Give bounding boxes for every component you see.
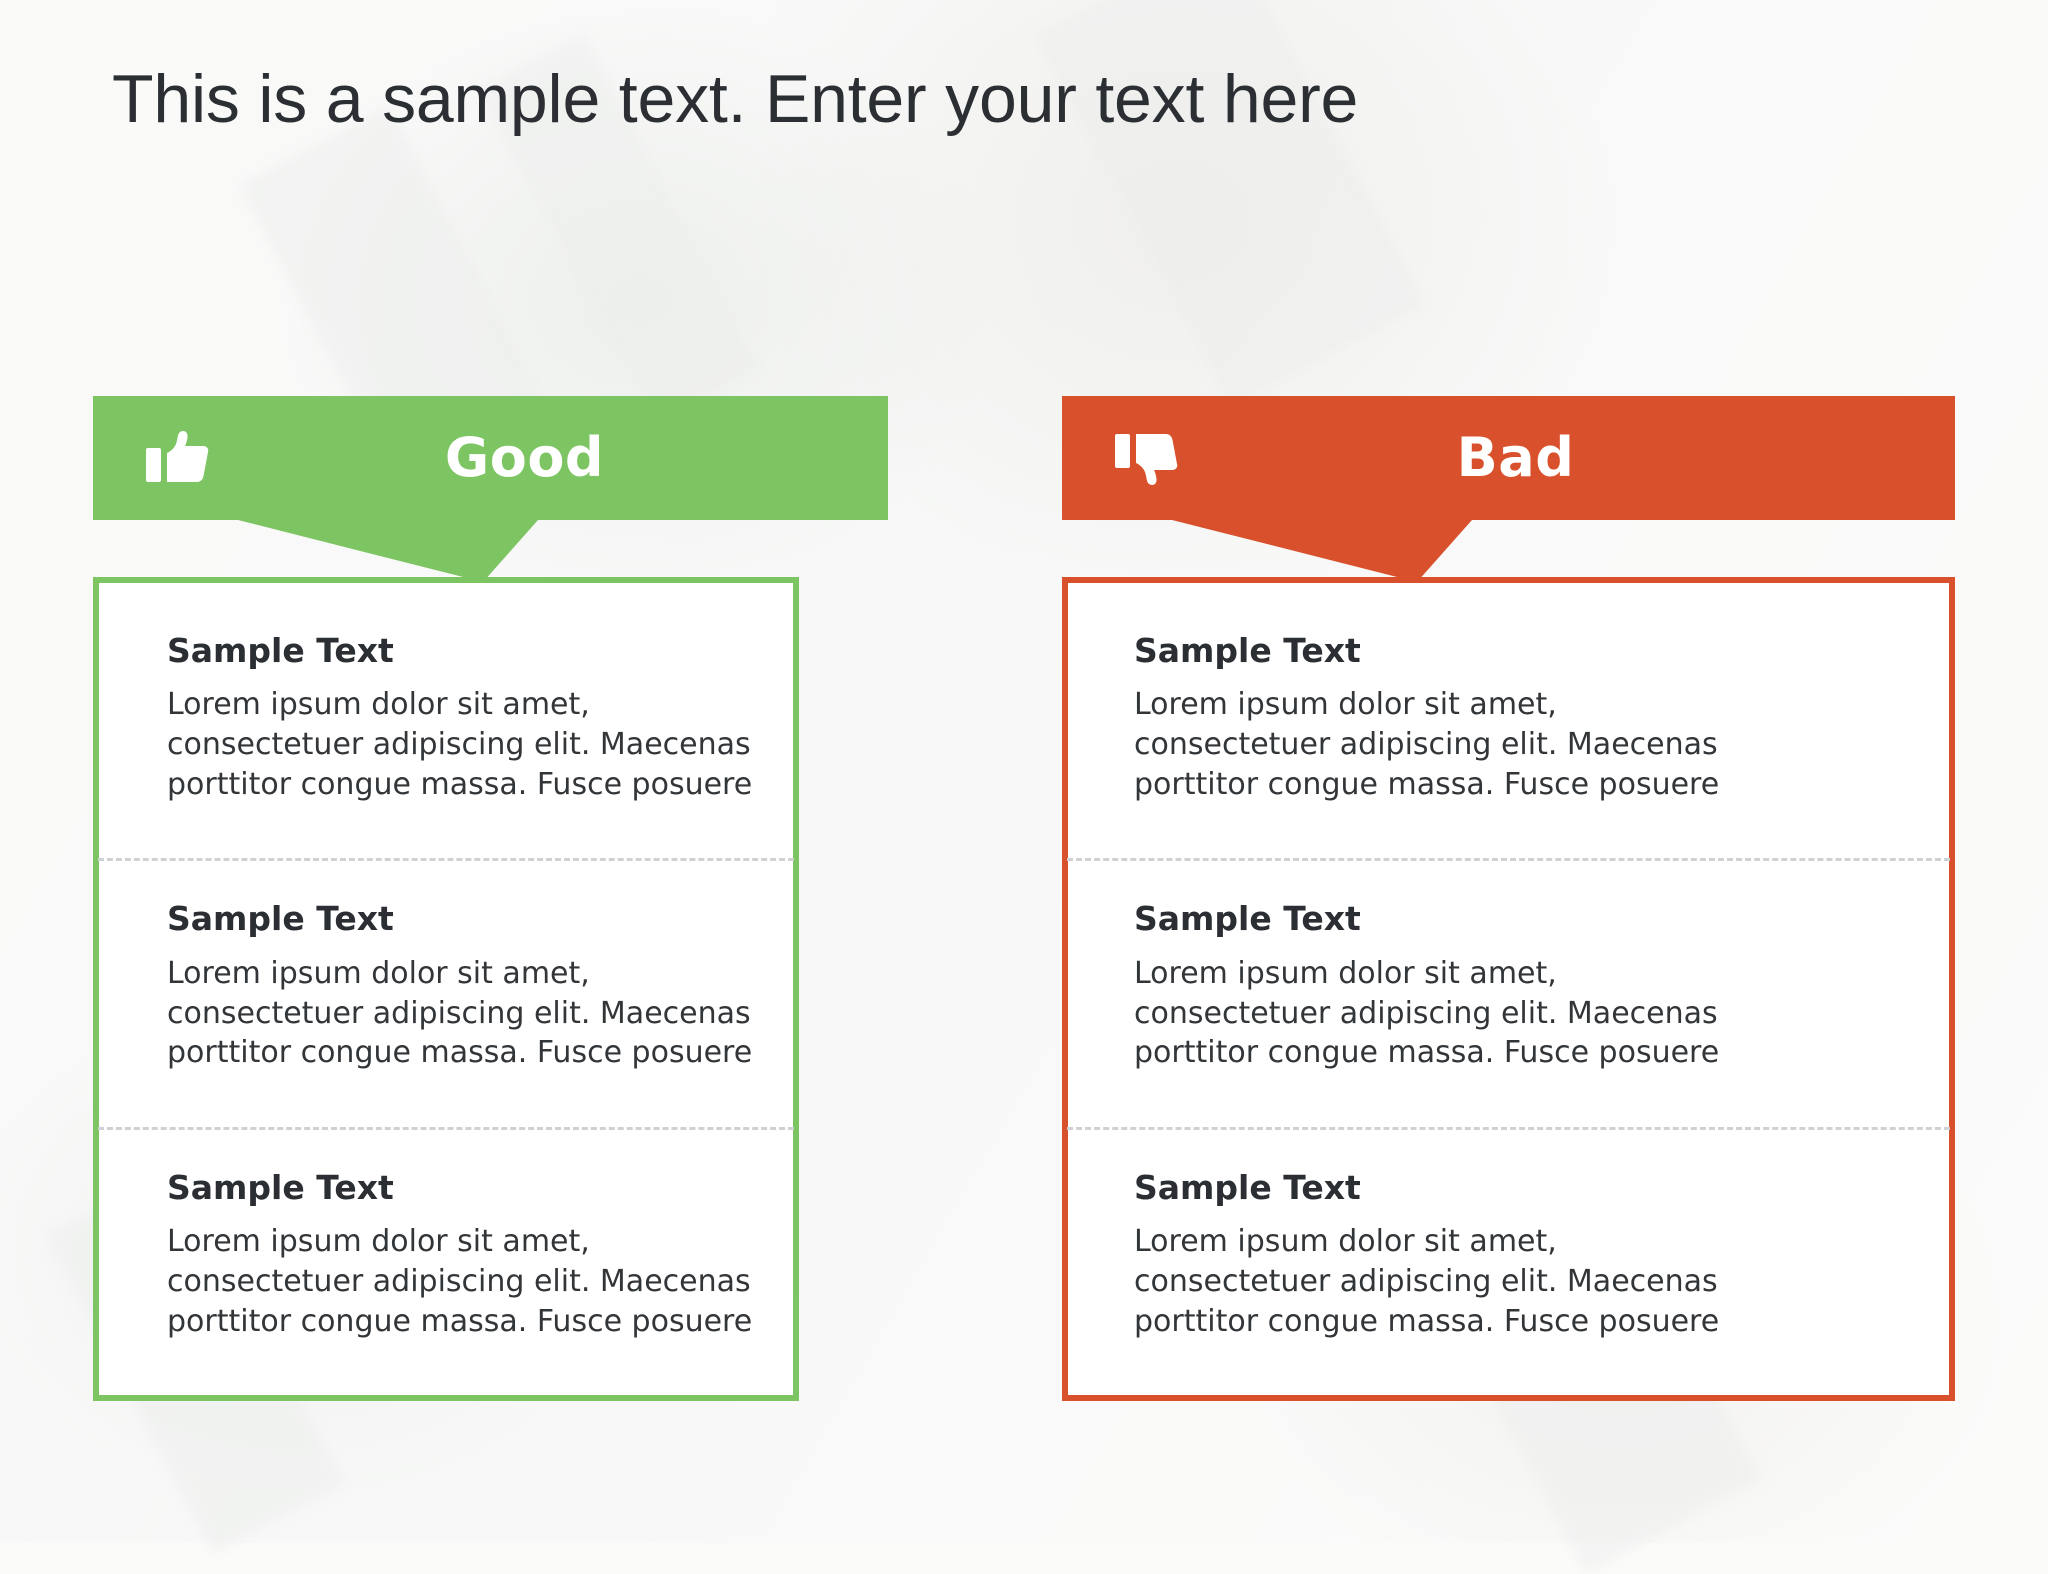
slide-canvas: This is a sample text. Enter your text h…: [0, 0, 2048, 1543]
banner-label-good: Good: [217, 431, 888, 485]
column-good: Good Sample Text Lorem ipsum dolor sit a…: [93, 396, 993, 520]
entry-title: Sample Text: [1134, 1170, 1909, 1206]
list-item[interactable]: Sample Text Lorem ipsum dolor sit amet, …: [1068, 593, 1949, 858]
list-item[interactable]: Sample Text Lorem ipsum dolor sit amet, …: [99, 593, 793, 858]
list-item[interactable]: Sample Text Lorem ipsum dolor sit amet, …: [99, 861, 793, 1126]
list-item[interactable]: Sample Text Lorem ipsum dolor sit amet, …: [1068, 861, 1949, 1126]
list-item[interactable]: Sample Text Lorem ipsum dolor sit amet, …: [1068, 1130, 1949, 1395]
page-title: This is a sample text. Enter your text h…: [112, 60, 1358, 138]
banner-label-bad: Bad: [1186, 431, 1955, 485]
entry-body: Lorem ipsum dolor sit amet, consectetuer…: [1134, 1222, 1734, 1342]
list-item[interactable]: Sample Text Lorem ipsum dolor sit amet, …: [99, 1130, 793, 1395]
banner-bad[interactable]: Bad: [1062, 396, 1955, 520]
entry-body: Lorem ipsum dolor sit amet, consectetuer…: [1134, 685, 1734, 805]
entry-body: Lorem ipsum dolor sit amet, consectetuer…: [167, 1222, 767, 1342]
thumbs-down-icon: [1110, 420, 1186, 496]
card-good: Sample Text Lorem ipsum dolor sit amet, …: [93, 577, 799, 1401]
entry-body: Lorem ipsum dolor sit amet, consectetuer…: [1134, 954, 1734, 1074]
column-bad: Bad Sample Text Lorem ipsum dolor sit am…: [1062, 396, 1955, 520]
banner-tail-bad: [1172, 520, 1472, 582]
entry-title: Sample Text: [1134, 901, 1909, 937]
banner-tail-good: [238, 520, 538, 582]
entry-title: Sample Text: [167, 1170, 767, 1206]
thumbs-up-icon: [141, 420, 217, 496]
entry-title: Sample Text: [167, 901, 767, 937]
entry-body: Lorem ipsum dolor sit amet, consectetuer…: [167, 954, 767, 1074]
banner-good[interactable]: Good: [93, 396, 888, 520]
card-bad: Sample Text Lorem ipsum dolor sit amet, …: [1062, 577, 1955, 1401]
entry-body: Lorem ipsum dolor sit amet, consectetuer…: [167, 685, 767, 805]
entry-title: Sample Text: [1134, 633, 1909, 669]
entry-title: Sample Text: [167, 633, 767, 669]
